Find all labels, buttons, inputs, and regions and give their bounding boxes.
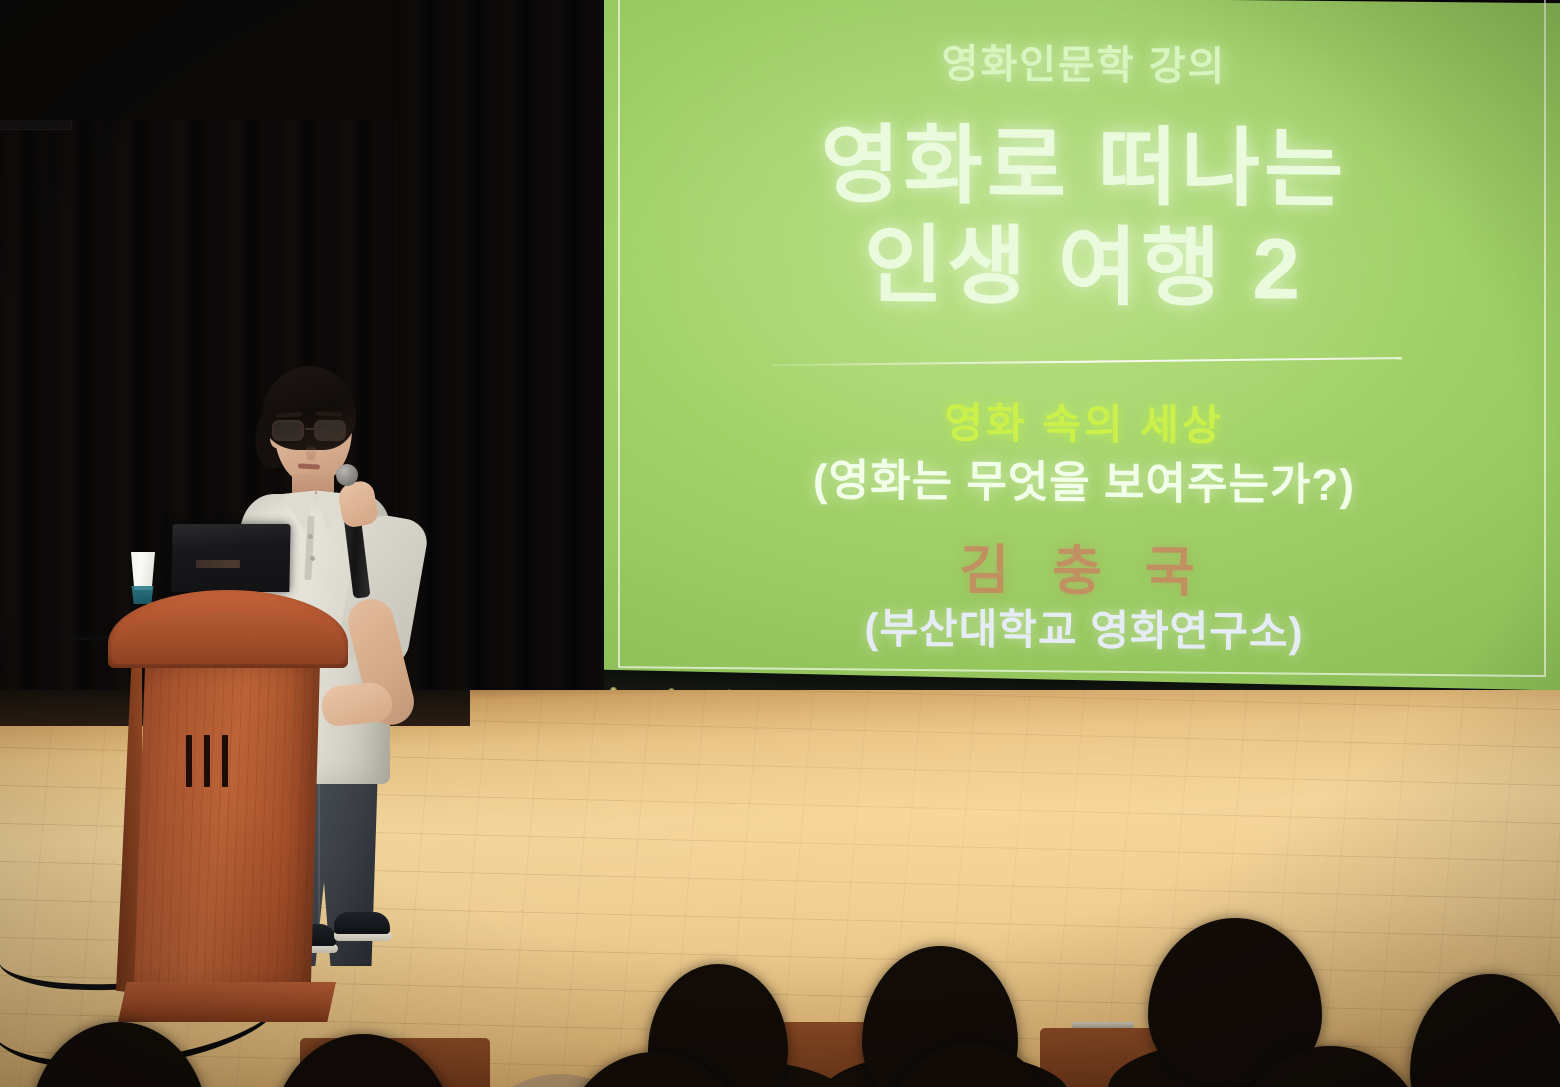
laptop-logo <box>196 560 240 568</box>
slide-presenter-affiliation: (부산대학교 영화연구소) <box>604 592 1560 662</box>
polo-button-1 <box>308 534 313 539</box>
glasses-lens-right <box>314 420 346 441</box>
audience-silhouettes <box>0 790 1560 1087</box>
slide-header-text: 영화인문학 강의 <box>604 28 1560 95</box>
audience-head-4 <box>1410 974 1560 1087</box>
lectern-slot-1 <box>186 735 192 787</box>
audience-head-5 <box>30 1022 208 1087</box>
slide-content: 영화인문학 강의 영화로 떠나는 인생 여행 2 영화 속의 세상 (영화는 무… <box>604 0 1560 700</box>
speaker-hand-holding-mic <box>336 479 379 529</box>
glasses-icon <box>272 420 352 442</box>
projection-screen: 영화인문학 강의 영화로 떠나는 인생 여행 2 영화 속의 세상 (영화는 무… <box>604 0 1560 700</box>
microphone-head-icon <box>336 464 358 486</box>
podium-laptop[interactable] <box>171 524 290 592</box>
lectern-top-ledge <box>108 590 348 668</box>
slide-subtitle-question: (영화는 무엇을 보여주는가?) <box>604 442 1560 515</box>
stage-upper-dark <box>0 0 460 120</box>
slide-main-title: 영화로 떠나는 인생 여행 2 <box>604 114 1560 323</box>
lectern-top-face <box>112 612 344 664</box>
stage-scene: 영화인문학 강의 영화로 떠나는 인생 여행 2 영화 속의 세상 (영화는 무… <box>0 0 1560 1087</box>
speaker-nose <box>306 444 316 460</box>
polo-button-2 <box>310 556 315 561</box>
lectern-vent-slots <box>186 735 232 787</box>
lectern-slot-3 <box>222 735 228 787</box>
lectern-slot-2 <box>204 735 210 787</box>
slide-title-line-2: 인생 여행 2 <box>604 214 1560 323</box>
glasses-lens-left <box>272 420 304 441</box>
slide-title-line-1: 영화로 떠나는 <box>604 114 1560 223</box>
slide-divider-line <box>772 357 1402 366</box>
speaker-mouth <box>298 463 320 469</box>
